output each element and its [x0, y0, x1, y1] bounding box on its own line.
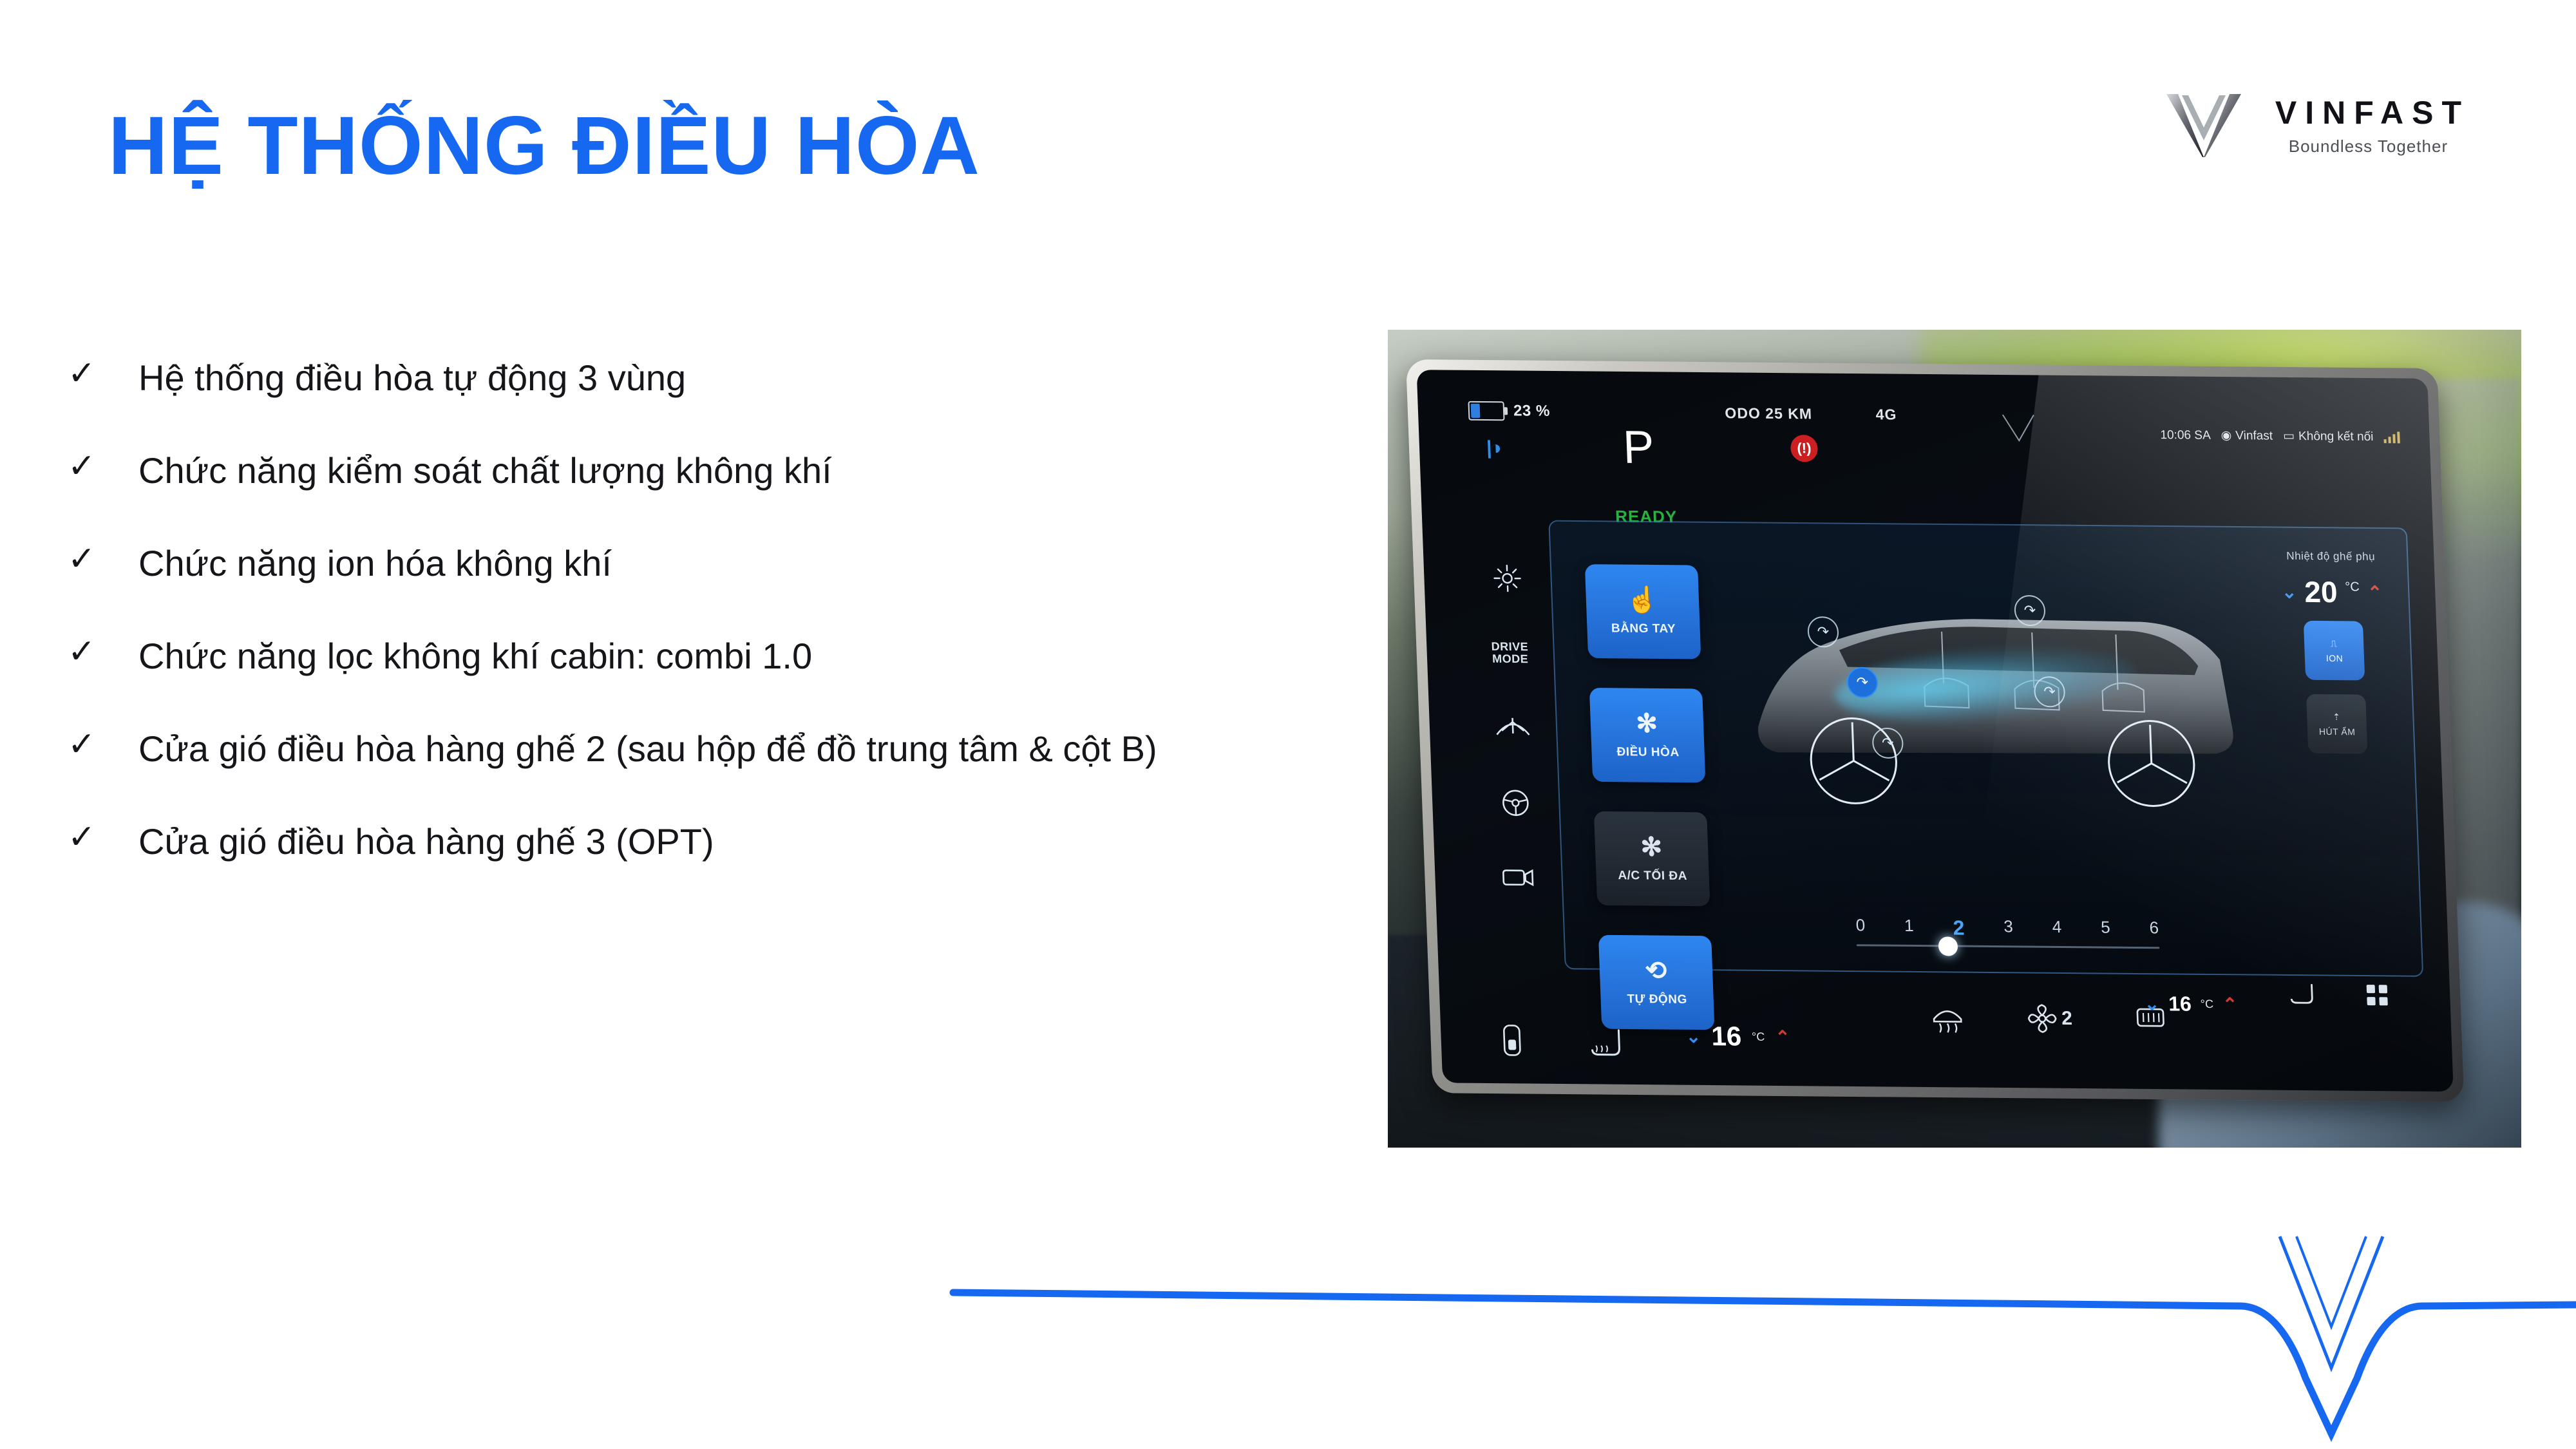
list-item-label: Cửa gió điều hòa hàng ghế 2 (sau hộp để …: [138, 722, 1157, 776]
carrier-icon: ◉: [2221, 428, 2231, 443]
odometer: ODO 25 KM: [1725, 404, 1813, 422]
brand-tagline: Boundless Together: [2289, 138, 2448, 155]
mode-button-label: A/C TỐI ĐA: [1618, 869, 1687, 884]
temperature-unit: °C: [2345, 580, 2360, 594]
rail-item-wiper[interactable]: [1493, 712, 1532, 739]
fan-speed-slider[interactable]: 0 1 2 3 4 5 6: [1855, 915, 2159, 949]
snowflake-icon: ✻: [1640, 834, 1663, 860]
driver-temp-increase-icon[interactable]: ⌃: [1775, 1026, 1791, 1047]
manual-hand-icon: ☝: [1626, 587, 1660, 613]
rail-item-label: DRIVE MODE: [1474, 640, 1546, 665]
wifi-off-icon: ▭: [2283, 429, 2295, 444]
ionizer-label: ION: [2325, 653, 2343, 663]
fan-tick-active: 2: [1953, 916, 1965, 940]
battery-percent: 23 %: [1513, 402, 1551, 420]
infotainment-display[interactable]: 23 % |◑ P READY ODO 25 KM 4G (!) 10:06 S…: [1417, 370, 2454, 1092]
steering-wheel-icon: [1499, 787, 1531, 818]
ionizer-button[interactable]: ⎍ ION: [2304, 621, 2365, 681]
list-item: ✓ Hệ thống điều hòa tự động 3 vùng: [68, 351, 1356, 405]
front-defrost-icon[interactable]: [1929, 1002, 1965, 1033]
check-icon: ✓: [68, 536, 138, 581]
passenger-temperature-control-bottom[interactable]: ⌄ 16 °C ⌃: [2144, 992, 2238, 1016]
defog-label: HÚT ẨM: [2319, 726, 2356, 736]
passenger-temperature-value: 20: [2304, 577, 2338, 607]
climate-mode-buttons: ☝ BẰNG TAY ✻ ĐIỀU HÒA ✻ A/C TỐI ĐA ⟲ TỰ …: [1585, 564, 1718, 1030]
temp-increase-icon[interactable]: ⌃: [2367, 582, 2383, 603]
mode-button-label: ĐIỀU HÒA: [1616, 745, 1680, 760]
list-item-label: Chức năng ion hóa không khí: [138, 536, 612, 591]
list-item-label: Cửa gió điều hòa hàng ghế 3 (OPT): [138, 815, 714, 869]
clock: 10:06 SA: [2160, 428, 2211, 443]
fan-tick: 1: [1904, 916, 1915, 940]
mode-button-max-ac[interactable]: ✻ A/C TỐI ĐA: [1594, 811, 1710, 906]
driver-temperature-control[interactable]: ⌄ 16 °C ⌃: [1685, 1021, 1791, 1052]
check-icon: ✓: [68, 351, 138, 395]
brake-warning-icon: (!): [1790, 435, 1819, 462]
check-icon: ✓: [68, 815, 138, 859]
list-item: ✓ Chức năng kiểm soát chất lượng không k…: [68, 444, 1356, 498]
seat-heat-icon[interactable]: [1586, 1023, 1626, 1059]
apps-grid-icon[interactable]: [2363, 981, 2391, 1009]
list-item: ✓ Cửa gió điều hòa hàng ghế 2 (sau hộp đ…: [68, 722, 1356, 776]
camera-icon: [1501, 866, 1535, 889]
page-title: HỆ THỐNG ĐIỀU HÒA: [108, 103, 980, 189]
passenger-temperature-value-bottom: 16: [2168, 992, 2192, 1016]
rail-item-steering[interactable]: [1499, 787, 1531, 818]
signal-strength-icon: [2383, 431, 2400, 443]
passenger-temperature-unit-bottom: °C: [2200, 998, 2213, 1011]
rail-item-drive-mode[interactable]: DRIVE MODE: [1474, 640, 1546, 665]
passenger-temp-decrease-icon[interactable]: ⌄: [2144, 993, 2160, 1014]
brand-name: VINFAST: [2267, 97, 2470, 129]
bottom-right-icons: [2287, 981, 2391, 1009]
fan-level-value: 2: [2061, 1008, 2073, 1030]
driver-temperature-unit: °C: [1752, 1030, 1765, 1043]
fan-tick: 6: [2149, 918, 2159, 942]
fan-indicator[interactable]: 2: [2026, 1003, 2073, 1034]
fan-tick: 0: [1855, 915, 1866, 939]
car-airflow-graphic: ↷ ↷ ↷ ↷ ↷: [1725, 533, 2266, 860]
check-icon: ✓: [68, 629, 138, 674]
quick-action-rail: DRIVE MODE: [1472, 563, 1555, 889]
ionizer-icon: ⎍: [2331, 638, 2338, 649]
fan-speed-ticks: 0 1 2 3 4 5 6: [1855, 915, 2159, 942]
display-assembly: 23 % |◑ P READY ODO 25 KM 4G (!) 10:06 S…: [1406, 359, 2464, 1102]
brightness-sun-icon: [1492, 563, 1523, 593]
headlight-beam-icon: |◑: [1486, 437, 1501, 459]
bottom-control-bar: ⌄ 16 °C ⌃: [1438, 962, 2453, 1081]
feature-list: ✓ Hệ thống điều hòa tự động 3 vùng ✓ Chứ…: [68, 351, 1356, 907]
mode-button-manual[interactable]: ☝ BẰNG TAY: [1585, 564, 1701, 659]
fan-slider-knob[interactable]: [1938, 936, 1958, 956]
defog-button[interactable]: ⇡ HÚT ẨM: [2306, 694, 2367, 754]
driver-temperature-value: 16: [1710, 1021, 1742, 1052]
door-lock-icon[interactable]: [1499, 1021, 1526, 1059]
fan-icon: [2026, 1003, 2058, 1034]
gear-indicator: P: [1622, 424, 1655, 471]
network-indicator: 4G: [1875, 406, 1897, 423]
carrier-label: ◉ Vinfast: [2221, 428, 2273, 444]
decorative-swoosh: [0, 1230, 2576, 1449]
fan-tick: 5: [2101, 918, 2111, 942]
vinfast-v-logo-icon: [2163, 90, 2245, 161]
check-icon: ✓: [68, 444, 138, 488]
mode-button-ac[interactable]: ✻ ĐIỀU HÒA: [1589, 688, 1706, 782]
list-item-label: Chức năng lọc không khí cabin: combi 1.0: [138, 629, 812, 683]
defog-icon: ⇡: [2333, 712, 2341, 723]
battery-indicator: 23 %: [1468, 401, 1550, 421]
battery-icon: [1468, 401, 1504, 421]
list-item: ✓ Chức năng lọc không khí cabin: combi 1…: [68, 629, 1356, 683]
seat-memory-icon[interactable]: [2287, 981, 2316, 1008]
list-item-label: Hệ thống điều hòa tự động 3 vùng: [138, 351, 686, 405]
vinfast-v-watermark-icon: [2002, 413, 2036, 442]
list-item: ✓ Cửa gió điều hòa hàng ghế 3 (OPT): [68, 815, 1356, 869]
passenger-climate-column: Nhiệt độ ghế phụ ⌄ 20 °C ⌃ ⎍ ION ⇡ HÚT Ẩ…: [2273, 549, 2396, 753]
bottom-left-icons: [1499, 1021, 1626, 1060]
system-status-group: 10:06 SA ◉ Vinfast ▭ Không kết nối: [2160, 428, 2400, 444]
infotainment-photo: 23 % |◑ P READY ODO 25 KM 4G (!) 10:06 S…: [1388, 330, 2521, 1148]
fan-tick: 3: [2003, 916, 2014, 940]
snowflake-icon: ✻: [1636, 711, 1659, 737]
status-bar: 23 % |◑ P READY ODO 25 KM 4G (!) 10:06 S…: [1417, 386, 2432, 505]
brand-logo: VINFAST Boundless Together: [2163, 90, 2470, 161]
rail-item-brightness[interactable]: [1492, 563, 1523, 593]
driver-temp-decrease-icon[interactable]: ⌄: [1685, 1025, 1701, 1046]
wiper-icon: [1493, 712, 1532, 739]
connection-label: ▭ Không kết nối: [2283, 429, 2374, 444]
check-icon: ✓: [68, 722, 138, 766]
fan-tick: 4: [2052, 917, 2062, 941]
passenger-temperature-control[interactable]: ⌄ 20 °C ⌃: [2281, 577, 2383, 607]
list-item: ✓ Chức năng ion hóa không khí: [68, 536, 1356, 591]
bottom-center-icons: 2: [1929, 1002, 2167, 1035]
temp-decrease-icon[interactable]: ⌄: [2281, 581, 2297, 602]
zone-label: Nhiệt độ ghế phụ: [2286, 550, 2375, 563]
mode-button-label: BẰNG TAY: [1611, 621, 1676, 636]
list-item-label: Chức năng kiểm soát chất lượng không khí: [138, 444, 832, 498]
rail-item-camera[interactable]: [1501, 866, 1535, 889]
passenger-temp-increase-icon[interactable]: ⌃: [2222, 994, 2238, 1015]
